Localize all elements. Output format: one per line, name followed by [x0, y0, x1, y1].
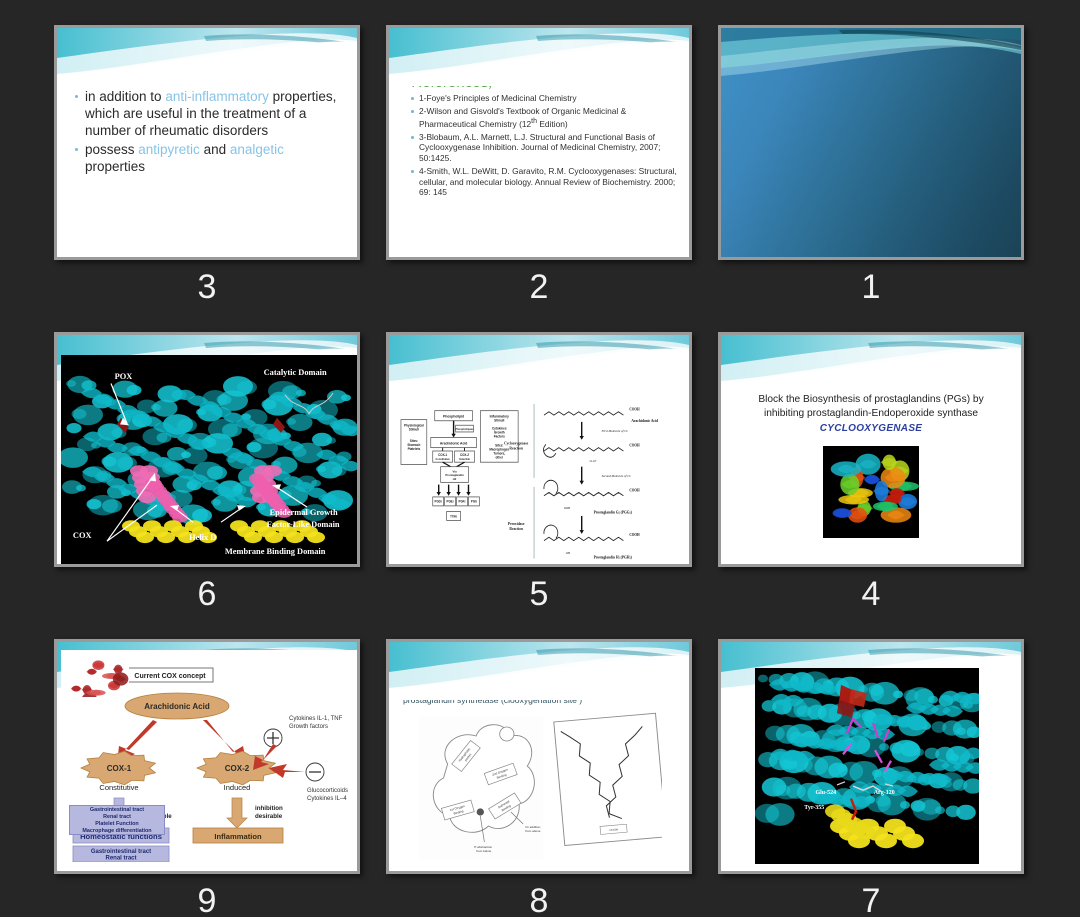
- svg-text:COX-2: COX-2: [225, 764, 250, 773]
- list-item: possess antipyretic and analgetic proper…: [75, 141, 343, 175]
- slide-cell-3[interactable]: NSAIDsin addition to anti-inflammatory p…: [54, 25, 386, 332]
- svg-text:Gastrointestinal tract: Gastrointestinal tract: [91, 849, 151, 855]
- emphasis-text: CYCLOOXYGENASE: [721, 423, 1021, 434]
- svg-text:COOH: COOH: [609, 827, 618, 832]
- slide-number: 3: [54, 268, 360, 307]
- function-item: Renal tract: [70, 814, 164, 821]
- slide-number: 5: [386, 575, 692, 614]
- slide-cell-4[interactable]: Molecular MechanismBlock the Biosynthesi…: [718, 332, 1050, 639]
- svg-text:COOH: COOH: [629, 488, 639, 492]
- reference-list: 1-Foye's Principles of Medicinal Chemist…: [411, 93, 677, 197]
- structure-label: COX: [73, 531, 92, 540]
- slide-number: 1: [718, 268, 1024, 307]
- svg-text:COX-1: COX-1: [107, 764, 132, 773]
- structure-label: POX: [115, 372, 133, 381]
- slide-thumbnail[interactable]: NonStroidal Anti-Inflammatory Drugs (NSA…: [718, 25, 1024, 260]
- svg-text:OH: OH: [566, 551, 571, 555]
- svg-text:COOH: COOH: [629, 533, 639, 537]
- svg-text:Cytokines IL–4: Cytokines IL–4: [307, 796, 347, 802]
- svg-text:Prostaglandin H2 (PGH2): Prostaglandin H2 (PGH2): [594, 555, 633, 559]
- slide-thumbnail[interactable]: Biosynthesis of ProstaglandinsPhysiologi…: [386, 332, 692, 567]
- slide-cell-2[interactable]: In the name of GodReferences,1-Foye's Pr…: [386, 25, 718, 332]
- slide-thumbnail[interactable]: POXCatalytic DomainCOXHelix DEpidermal G…: [54, 332, 360, 567]
- bullet-text: possess: [85, 142, 138, 157]
- svg-text:Growth factors: Growth factors: [289, 724, 328, 730]
- bullet-text: properties: [85, 159, 145, 174]
- slide-number: 4: [718, 575, 1024, 614]
- svg-text:Glucocorticoids: Glucocorticoids: [307, 788, 348, 794]
- structure-label: Arg-120: [874, 790, 895, 796]
- svg-text:Cytokines IL-1, TNF: Cytokines IL-1, TNF: [289, 716, 343, 722]
- svg-text:Prostaglandin G2 (PGG2): Prostaglandin G2 (PGG2): [594, 511, 633, 515]
- cox-crystal-structure-red: [69, 655, 129, 697]
- structure-label: Epidermal Growth: [270, 508, 338, 517]
- bullet-text: in addition to: [85, 89, 165, 104]
- svg-text:Second Molecule of O2: Second Molecule of O2: [602, 474, 632, 478]
- slide-thumbnail-wrapper[interactable]: POXCatalytic DomainCOXHelix DEpidermal G…: [54, 332, 360, 567]
- list-item: in addition to anti-inflammatory propert…: [75, 88, 343, 139]
- svg-text:Inflammation: Inflammation: [214, 832, 262, 841]
- svg-text:COX-2: COX-2: [460, 453, 469, 457]
- svg-text:Phospholipase: Phospholipase: [455, 427, 474, 431]
- slide-number: 9: [54, 882, 360, 917]
- slide-thumbnail[interactable]: In the name of GodReferences,1-Foye's Pr…: [386, 25, 692, 260]
- svg-text:other: other: [495, 455, 503, 459]
- svg-text:Stimuli: Stimuli: [494, 418, 504, 422]
- slide-thumbnail[interactable]: Current COX conceptArachidonic AcidCOX-1…: [54, 639, 360, 874]
- slide-header-wave: [721, 335, 1021, 393]
- slide-cell-7[interactable]: Glu-524Arg-120Tyr-3557: [718, 639, 1050, 917]
- slide-header-wave: [389, 335, 689, 393]
- slide-thumbnail-wrapper[interactable]: NonStroidal Anti-Inflammatory Drugs (NSA…: [718, 25, 1024, 260]
- body-line: inhibiting prostaglandin-Endoperoxide sy…: [731, 407, 1011, 421]
- slide-thumbnail[interactable]: Molecular MechanismBlock the Biosynthesi…: [718, 332, 1024, 567]
- svg-text:Stimuli: Stimuli: [409, 427, 419, 431]
- slide-header-wave: [389, 642, 689, 700]
- svg-text:Cyclooxygenase: Cyclooxygenase: [504, 441, 528, 445]
- prostaglandin-biosynthesis-diagram: PhysiologicalStimuliSites:StomachPlatele…: [395, 395, 683, 563]
- structure-label: Helix D: [189, 533, 216, 542]
- slide-cell-9[interactable]: Current COX conceptArachidonic AcidCOX-1…: [54, 639, 386, 917]
- function-item: Macrophage differentiation: [70, 828, 164, 835]
- svg-text:OOH: OOH: [564, 506, 571, 510]
- highlight-term: anti-inflammatory: [165, 89, 269, 104]
- slide-body: Block the Biosynthesis of prostaglandins…: [731, 393, 1011, 420]
- slide-thumbnail-wrapper[interactable]: In the name of GodReferences,1-Foye's Pr…: [386, 25, 692, 260]
- rainbow-protein-ribbon: [823, 446, 919, 538]
- function-item: Platelet Function: [70, 821, 164, 828]
- function-item: Gastrointestinal tract: [70, 807, 164, 814]
- svg-text:Reaction: Reaction: [509, 446, 523, 450]
- svg-text:Platelets: Platelets: [408, 447, 421, 451]
- svg-text:Current COX concept: Current COX concept: [134, 673, 206, 680]
- svg-text:COOH: COOH: [629, 443, 639, 447]
- slide-cell-1[interactable]: NonStroidal Anti-Inflammatory Drugs (NSA…: [718, 25, 1050, 332]
- structure-label: Membrane Binding Domain: [225, 547, 326, 556]
- svg-text:from above: from above: [525, 829, 541, 833]
- svg-text:COX-1: COX-1: [438, 453, 447, 457]
- slide-cell-5[interactable]: Biosynthesis of ProstaglandinsPhysiologi…: [386, 332, 718, 639]
- svg-text:Arachidonic Acid: Arachidonic Acid: [631, 419, 658, 423]
- svg-text:Reaction: Reaction: [509, 527, 523, 531]
- svg-text:Constitutive: Constitutive: [99, 783, 138, 792]
- svg-text:Arachidonic Acid: Arachidonic Acid: [440, 441, 467, 445]
- slide-cell-8[interactable]: Shen's proposed model of the fatty acid …: [386, 639, 718, 917]
- slide-number: 8: [386, 882, 692, 917]
- reference-item: 2-Wilson and Gisvold's Textbook of Organ…: [411, 106, 677, 129]
- svg-text:O–O•: O–O•: [590, 459, 597, 463]
- reference-item: 1-Foye's Principles of Medicinal Chemist…: [411, 93, 677, 103]
- svg-text:COOH: COOH: [629, 408, 639, 412]
- slide-thumbnail-wrapper[interactable]: Biosynthesis of ProstaglandinsPhysiologi…: [386, 332, 692, 567]
- svg-text:Phospholipid: Phospholipid: [443, 414, 464, 418]
- slide-thumbnail-wrapper[interactable]: NSAIDsin addition to anti-inflammatory p…: [54, 25, 360, 260]
- svg-text:inhibition: inhibition: [255, 805, 283, 812]
- slide-number: 2: [386, 268, 692, 307]
- svg-text:desirable: desirable: [255, 813, 283, 820]
- slide-sorter-grid: NSAIDsin addition to anti-inflammatory p…: [0, 0, 1080, 917]
- svg-text:H2: H2: [453, 477, 457, 481]
- title-slide-wave: [721, 28, 1021, 90]
- body-line: Block the Biosynthesis of prostaglandins…: [731, 393, 1011, 407]
- bullet-list: in addition to anti-inflammatory propert…: [75, 88, 343, 175]
- shen-binding-site-diagram: Hydrophobicpocket2nd OxygenBinding1st Ox…: [417, 712, 662, 862]
- slide-thumbnail-wrapper[interactable]: Glu-524Arg-120Tyr-3557: [718, 639, 1024, 874]
- slide-header-wave: [389, 28, 689, 86]
- slide-thumbnail[interactable]: NSAIDsin addition to anti-inflammatory p…: [54, 25, 360, 260]
- svg-text:Factors: Factors: [494, 434, 505, 438]
- svg-text:Constitutive: Constitutive: [436, 457, 451, 461]
- highlight-term: analgetic: [230, 142, 284, 157]
- slide-thumbnail-wrapper[interactable]: Molecular MechanismBlock the Biosynthesi…: [718, 332, 1024, 567]
- svg-text:Peroxidase: Peroxidase: [508, 522, 525, 526]
- cox-dimer-ribbon-structure: POXCatalytic DomainCOXHelix DEpidermal G…: [61, 355, 359, 564]
- reference-item: 4-Smith, W.L. DeWitt, D. Garavito, R.M. …: [411, 166, 677, 197]
- svg-text:Inducible: Inducible: [459, 457, 470, 461]
- highlight-term: antipyretic: [138, 142, 200, 157]
- slide-thumbnail[interactable]: Glu-524Arg-120Tyr-355: [718, 639, 1024, 874]
- slide-cell-6[interactable]: POXCatalytic DomainCOXHelix DEpidermal G…: [54, 332, 386, 639]
- structure-label: Glu-524: [815, 790, 836, 796]
- slide-header-wave: [57, 28, 357, 86]
- slide-number: 6: [54, 575, 360, 614]
- bullet-text: and: [200, 142, 230, 157]
- slide-thumbnail-wrapper[interactable]: Current COX conceptArachidonic AcidCOX-1…: [54, 639, 360, 874]
- svg-text:Renal tract: Renal tract: [105, 856, 136, 862]
- svg-text:Arachidonic Acid: Arachidonic Acid: [144, 702, 210, 711]
- structure-label: Tyr-355: [804, 805, 824, 811]
- homeostatic-functions-list: Gastrointestinal tractRenal tractPlatele…: [69, 805, 165, 835]
- cox-active-site-residues: Glu-524Arg-120Tyr-355: [755, 668, 979, 864]
- slide-thumbnail-wrapper[interactable]: Shen's proposed model of the fatty acid …: [386, 639, 692, 874]
- svg-text:Induced: Induced: [224, 783, 251, 792]
- svg-text:First Molecule of O2: First Molecule of O2: [601, 429, 629, 433]
- slide-thumbnail[interactable]: Shen's proposed model of the fatty acid …: [386, 639, 692, 874]
- reference-item: 3-Blobaum, A.L. Marnett, L.J. Structural…: [411, 132, 677, 163]
- svg-text:from below: from below: [476, 849, 492, 853]
- structure-label: Catalytic Domain: [264, 368, 327, 377]
- slide-number: 7: [718, 882, 1024, 917]
- structure-label: Factor-Like Domain: [267, 520, 340, 529]
